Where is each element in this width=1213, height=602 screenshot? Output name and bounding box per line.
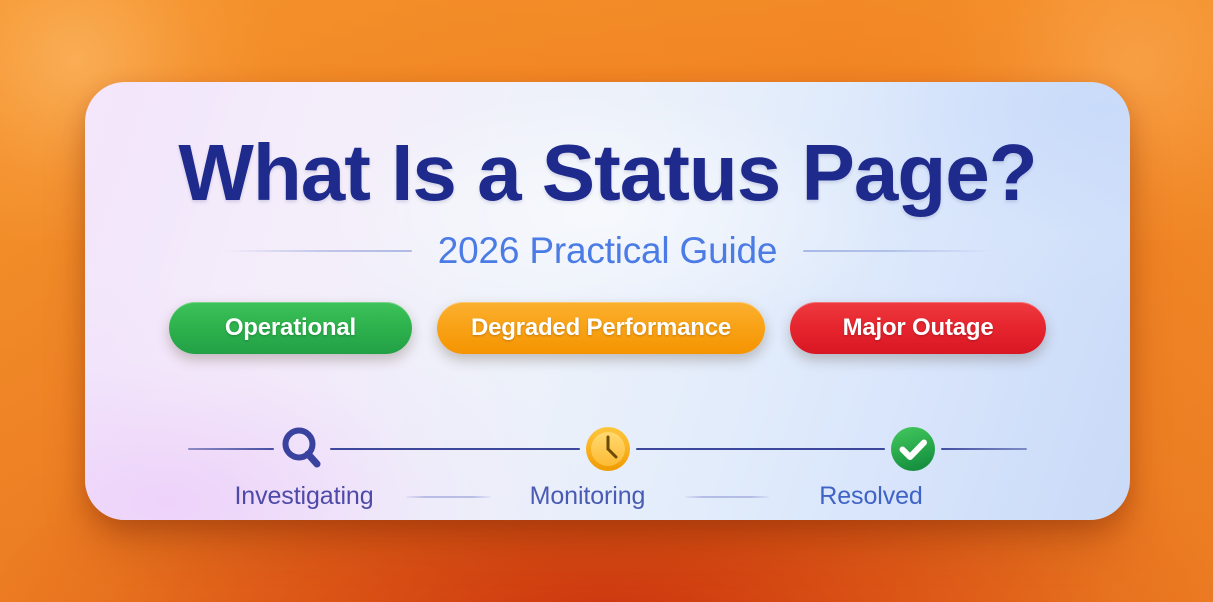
incident-timeline: Investigating Monitoring Resolved — [188, 394, 1027, 504]
timeline-step-monitoring[interactable] — [580, 421, 636, 477]
timeline-label-resolved: Resolved — [781, 482, 961, 511]
timeline-label-investigating: Investigating — [214, 482, 394, 511]
timeline-connector-2 — [636, 448, 886, 450]
timeline-step-resolved[interactable] — [885, 421, 941, 477]
status-page-card: What Is a Status Page? 2026 Practical Gu… — [85, 82, 1130, 520]
subtitle-rule-left — [222, 250, 412, 252]
infographic-stage: What Is a Status Page? 2026 Practical Gu… — [0, 0, 1213, 602]
subtitle-row: 2026 Practical Guide — [85, 224, 1130, 278]
check-circle-icon — [889, 425, 937, 473]
timeline-label-monitoring: Monitoring — [503, 482, 673, 511]
timeline-label-connector-1 — [406, 496, 491, 498]
magnifier-icon — [276, 423, 328, 475]
timeline-connector-1 — [330, 448, 580, 450]
timeline-labels: Investigating Monitoring Resolved — [188, 482, 1027, 511]
page-title: What Is a Status Page? — [85, 132, 1130, 214]
clock-icon — [584, 425, 632, 473]
page-subtitle: 2026 Practical Guide — [438, 230, 777, 272]
status-badge-operational[interactable]: Operational — [169, 302, 412, 354]
status-badge-group: Operational Degraded Performance Major O… — [85, 302, 1130, 354]
timeline-track — [188, 421, 1027, 477]
timeline-label-connector-2 — [685, 496, 770, 498]
timeline-step-investigating[interactable] — [274, 421, 330, 477]
card-content: What Is a Status Page? 2026 Practical Gu… — [85, 82, 1130, 520]
timeline-connector-start — [188, 448, 274, 450]
timeline-connector-end — [941, 448, 1027, 450]
subtitle-rule-right — [803, 250, 993, 252]
status-badge-major-outage[interactable]: Major Outage — [790, 302, 1046, 354]
status-badge-degraded-performance[interactable]: Degraded Performance — [437, 302, 765, 354]
